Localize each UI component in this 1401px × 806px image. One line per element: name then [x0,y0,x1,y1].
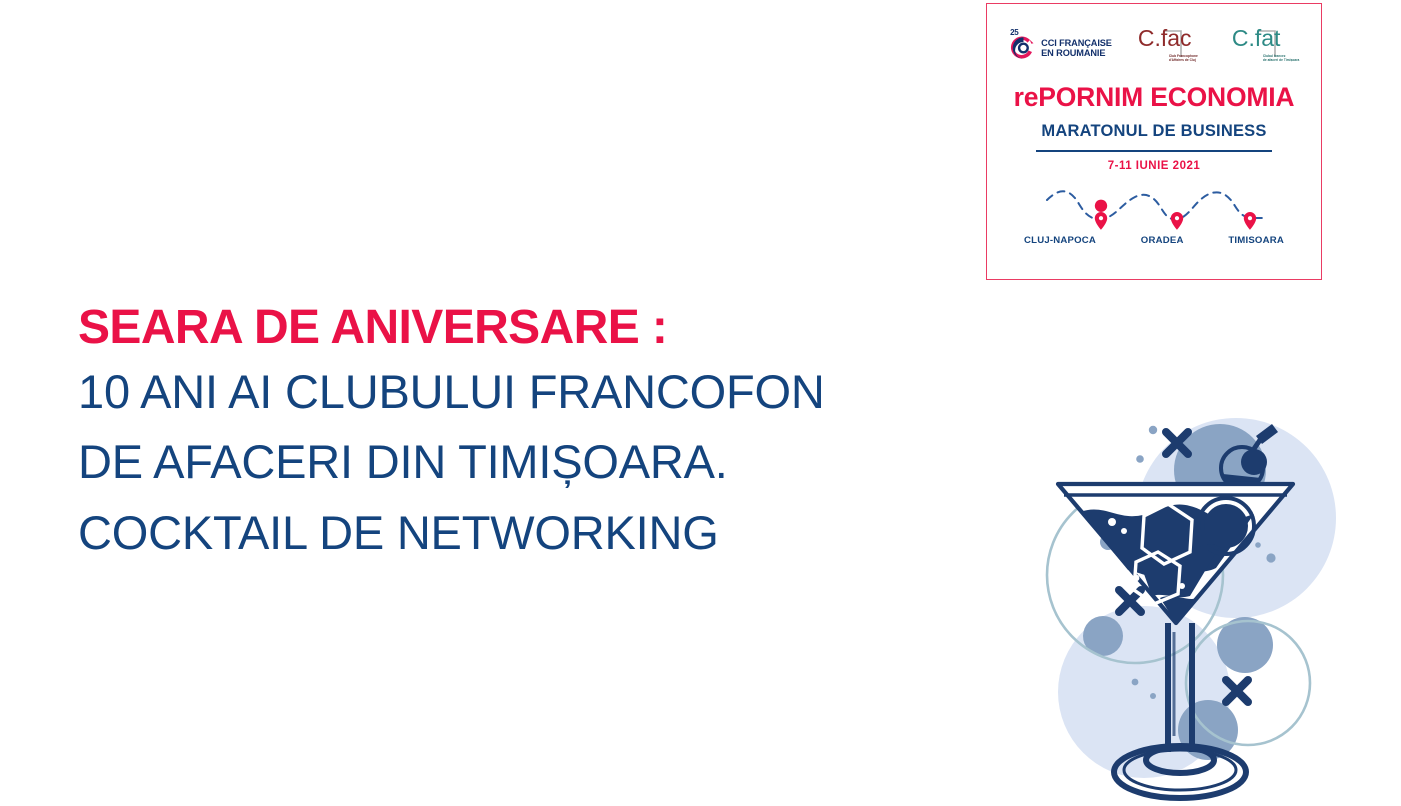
partner-logos-row: 25 CCI FRANÇAISE EN ROUMANIE C.fac Club … [987,4,1321,76]
cci-25-years-badge: 25 [1010,28,1018,37]
event-headline: SEARA DE ANIVERSARE : 10 ANI AI CLUBULUI… [78,300,1058,568]
headline-line-4: COCKTAIL DE NETWORKING [78,498,1058,569]
headline-line-2: 10 ANI AI CLUBULUI FRANCOFON [78,357,1058,428]
route-map: CLUJ-NAPOCA ORADEA TIMISOARA [1009,178,1299,248]
cfac-wordmark: C.fac [1138,27,1192,50]
cfat-wordmark: C.fat [1232,27,1281,50]
map-pin-oradea [1171,212,1183,230]
cfat-subtitle: Clubul francez de afaceri de Timișoara [1263,54,1300,62]
city-label-timisoara: TIMISOARA [1228,235,1284,246]
logo-cci-francaise-en-roumanie: 25 CCI FRANÇAISE EN ROUMANIE [1008,33,1112,63]
map-pin-timisoara [1244,212,1256,230]
headline-line-3: DE AFACERI DIN TIMIȘOARA. [78,427,1058,498]
city-label-oradea: ORADEA [1141,235,1184,246]
campaign-divider [1036,150,1272,152]
logo-c-fac: C.fac Club Francophone d'Affaires de Clu… [1138,27,1206,69]
campaign-subtitle: MARATONUL DE BUSINESS [1041,122,1266,141]
cocktail-glass-illustration [1040,400,1380,801]
cci-c-swirl-icon [1008,33,1038,63]
city-labels: CLUJ-NAPOCA ORADEA TIMISOARA [1009,235,1299,246]
cci-wordmark: CCI FRANÇAISE EN ROUMANIE [1041,38,1112,59]
campaign-dates: 7-11 IUNIE 2021 [1108,160,1201,172]
cfac-subtitle: Club Francophone d'Affaires de Cluj [1169,54,1198,62]
cci-emblem-icon: 25 [1008,33,1038,63]
city-label-cluj-napoca: CLUJ-NAPOCA [1024,235,1096,246]
map-pin-cluj-napoca [1095,199,1107,229]
logo-c-fat: C.fat Clubul francez de afaceri de Timiș… [1232,27,1300,69]
cocktail-glass-svg [1040,400,1380,801]
cci-wordmark-line2: EN ROUMANIE [1041,48,1112,58]
cci-wordmark-line1: CCI FRANÇAISE [1041,38,1112,48]
event-logo-card: 25 CCI FRANÇAISE EN ROUMANIE C.fac Club … [986,3,1322,280]
campaign-title: rePORNIM ECONOMIA [1014,82,1295,113]
headline-line-1: SEARA DE ANIVERSARE : [78,300,1058,357]
